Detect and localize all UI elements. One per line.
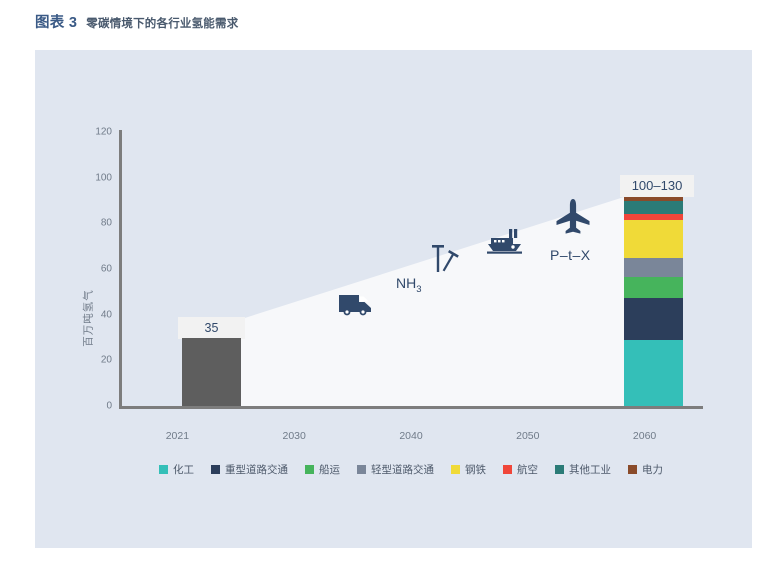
x-tick-label-2030: 2030 xyxy=(283,430,306,442)
legend-label: 船运 xyxy=(319,462,340,477)
truck-icon xyxy=(338,292,374,321)
x-tick-label-2021: 2021 xyxy=(166,430,189,442)
ship-icon xyxy=(486,228,524,261)
x-axis-ticks: 20212030204020502060 xyxy=(119,430,703,446)
y-tick-label: 120 xyxy=(70,127,112,138)
y-tick-label: 80 xyxy=(70,218,112,229)
legend-label: 化工 xyxy=(173,462,194,477)
legend-swatch xyxy=(305,465,314,474)
legend-item[interactable]: 轻型道路交通 xyxy=(357,462,434,477)
y-tick-label: 20 xyxy=(70,355,112,366)
chart-legend: 化工重型道路交通船运轻型道路交通钢铁航空其他工业电力 xyxy=(119,462,703,477)
legend-swatch xyxy=(555,465,564,474)
legend-swatch xyxy=(503,465,512,474)
bar-segment[interactable] xyxy=(624,298,683,340)
legend-swatch xyxy=(451,465,460,474)
legend-label: 其他工业 xyxy=(569,462,611,477)
bar-segment[interactable] xyxy=(624,201,683,214)
legend-label: 电力 xyxy=(642,462,663,477)
nh3-label: NH3 xyxy=(396,275,422,295)
y-tick-label: 40 xyxy=(70,309,112,320)
x-tick-label-2040: 2040 xyxy=(399,430,422,442)
legend-label: 航空 xyxy=(517,462,538,477)
towers-icon xyxy=(430,243,460,280)
legend-swatch xyxy=(628,465,637,474)
legend-label: 重型道路交通 xyxy=(225,462,288,477)
bar-segment[interactable] xyxy=(624,340,683,406)
legend-label: 轻型道路交通 xyxy=(371,462,434,477)
legend-item[interactable]: 重型道路交通 xyxy=(211,462,288,477)
bar-value-label-2021: 35 xyxy=(178,317,245,339)
y-axis-line xyxy=(119,130,122,408)
x-tick-label-2060: 2060 xyxy=(633,430,656,442)
bar-segment[interactable] xyxy=(624,258,683,277)
x-axis-line xyxy=(119,406,703,409)
legend-swatch xyxy=(159,465,168,474)
legend-item[interactable]: 化工 xyxy=(159,462,194,477)
bar-2060-stacked[interactable] xyxy=(624,197,683,406)
legend-label: 钢铁 xyxy=(465,462,486,477)
legend-swatch xyxy=(357,465,366,474)
bar-value-label-2060: 100–130 xyxy=(620,175,694,197)
y-tick-label: 100 xyxy=(70,172,112,183)
legend-swatch xyxy=(211,465,220,474)
nh3-subscript: 3 xyxy=(416,284,421,295)
bar-2021[interactable] xyxy=(182,338,241,406)
legend-item[interactable]: 船运 xyxy=(305,462,340,477)
legend-item[interactable]: 钢铁 xyxy=(451,462,486,477)
bar-segment[interactable] xyxy=(624,220,683,259)
x-tick-label-2050: 2050 xyxy=(516,430,539,442)
legend-item[interactable]: 电力 xyxy=(628,462,663,477)
legend-item[interactable]: 其他工业 xyxy=(555,462,611,477)
legend-item[interactable]: 航空 xyxy=(503,462,538,477)
y-axis-ticks: 120100806040200 xyxy=(64,0,112,576)
bar-segment[interactable] xyxy=(624,277,683,298)
ptx-label: P–t–X xyxy=(550,247,591,263)
plane-icon xyxy=(555,198,591,243)
y-tick-label: 60 xyxy=(70,264,112,275)
y-tick-label: 0 xyxy=(70,401,112,412)
nh3-formula: NH xyxy=(396,275,416,291)
